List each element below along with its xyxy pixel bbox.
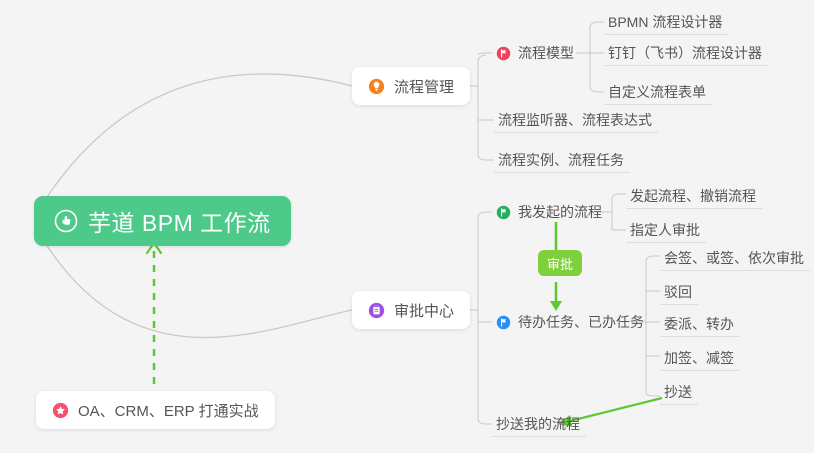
node-label: 待办任务、已办任务 — [518, 312, 644, 332]
node-process-model[interactable]: 流程模型 — [492, 40, 580, 66]
node-process-listener-expression[interactable]: 流程监听器、流程表达式 — [494, 107, 658, 133]
root-node[interactable]: 芋道 BPM 工作流 — [34, 196, 291, 246]
node-label: 钉钉（飞书）流程设计器 — [608, 43, 762, 63]
node-cc[interactable]: 抄送 — [660, 379, 698, 405]
node-label: 流程实例、流程任务 — [498, 150, 624, 170]
node-label: 流程监听器、流程表达式 — [498, 110, 652, 130]
node-reject[interactable]: 驳回 — [660, 279, 698, 305]
node-cc-to-me-process[interactable]: 抄送我的流程 — [492, 411, 586, 437]
node-todo-done-tasks[interactable]: 待办任务、已办任务 — [492, 309, 650, 335]
flag-icon — [496, 315, 511, 330]
node-label: 会签、或签、依次审批 — [664, 248, 804, 268]
lightbulb-icon — [368, 78, 385, 95]
node-label: 指定人审批 — [630, 220, 700, 240]
node-label: 发起流程、撤销流程 — [630, 186, 756, 206]
node-process-instance-task[interactable]: 流程实例、流程任务 — [494, 147, 630, 173]
node-label: 自定义流程表单 — [608, 82, 706, 102]
node-bpmn-designer[interactable]: BPMN 流程设计器 — [604, 9, 728, 35]
node-dingtalk-feishu-designer[interactable]: 钉钉（飞书）流程设计器 — [604, 40, 768, 66]
clipboard-icon — [368, 302, 385, 319]
branch-label: 流程管理 — [394, 76, 454, 97]
node-designated-approver[interactable]: 指定人审批 — [626, 217, 706, 243]
node-start-cancel-process[interactable]: 发起流程、撤销流程 — [626, 183, 762, 209]
node-my-initiated-process[interactable]: 我发起的流程 — [492, 199, 608, 225]
branch-label: 审批中心 — [394, 300, 454, 321]
node-label: 抄送我的流程 — [496, 414, 580, 434]
floating-node-integration[interactable]: OA、CRM、ERP 打通实战 — [36, 391, 275, 429]
flag-icon — [496, 205, 511, 220]
node-label: 委派、转办 — [664, 314, 734, 334]
node-label: BPMN 流程设计器 — [608, 12, 722, 32]
annotation-approve-pill: 审批 — [538, 250, 582, 276]
branch-process-management[interactable]: 流程管理 — [352, 67, 470, 105]
node-delegate-transfer[interactable]: 委派、转办 — [660, 311, 740, 337]
node-label: 驳回 — [664, 282, 692, 302]
root-label: 芋道 BPM 工作流 — [88, 204, 271, 238]
node-custom-process-form[interactable]: 自定义流程表单 — [604, 79, 712, 105]
node-label: 流程模型 — [518, 43, 574, 63]
flag-icon — [496, 46, 511, 61]
thumbs-up-icon — [54, 209, 78, 233]
node-label: 我发起的流程 — [518, 202, 602, 222]
star-icon — [52, 402, 69, 419]
floating-node-label: OA、CRM、ERP 打通实战 — [78, 400, 259, 421]
node-add-remove-sign[interactable]: 加签、减签 — [660, 345, 740, 371]
node-label: 加签、减签 — [664, 348, 734, 368]
branch-approval-center[interactable]: 审批中心 — [352, 291, 470, 329]
node-label: 抄送 — [664, 382, 692, 402]
node-countersign-orsign-sequential[interactable]: 会签、或签、依次审批 — [660, 245, 810, 271]
annotation-label: 审批 — [547, 254, 573, 273]
mindmap-canvas: 芋道 BPM 工作流 流程管理 流程模型 BPMN 流程设计器 钉钉（飞书 — [0, 0, 814, 453]
